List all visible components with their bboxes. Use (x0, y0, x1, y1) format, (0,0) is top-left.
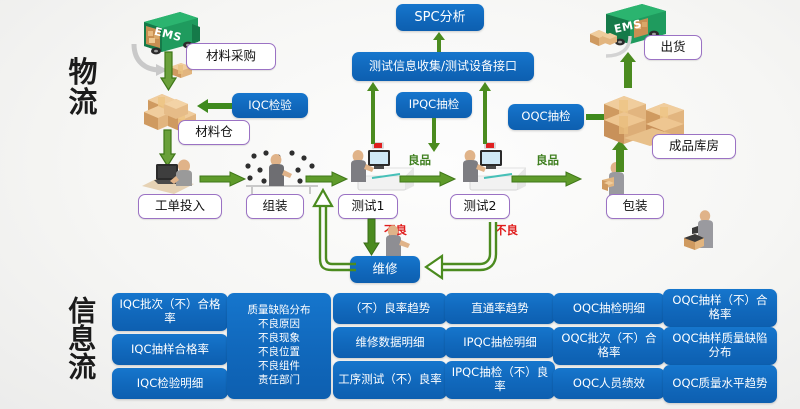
arrow-iqc-to-material (196, 98, 232, 114)
info-box-oqc-sample-defect-distribution[interactable]: OQC抽样质量缺陷分布 (663, 327, 777, 365)
info-box-iqc-sampling-pass-rate-text: IQC抽样合格率 (131, 343, 209, 357)
info-box-oqc-lot-pass-rate[interactable]: OQC批次（不）合格率 (553, 327, 665, 365)
test2-text: 测试2 (464, 199, 497, 213)
arrow-test1-to-testinfo (366, 82, 380, 144)
info-box-oqc-sample-pass-rate[interactable]: OQC抽样（不）合格率 (663, 289, 777, 327)
button-spc-analysis[interactable]: SPC分析 (396, 4, 484, 31)
label-work-order-input[interactable]: 工单投入 (138, 194, 222, 219)
label-material-purchase[interactable]: 材料采购 (186, 43, 276, 70)
button-test-info-collection[interactable]: 测试信息收集/测试设备接口 (352, 52, 534, 81)
button-oqc-sampling[interactable]: OQC抽检 (508, 104, 584, 130)
material-purchase-text: 材料采购 (206, 49, 256, 63)
info-box-defect-rate-trend-text: （不）良率趋势 (350, 302, 431, 316)
parcel-icon-outbound (588, 26, 618, 48)
warehouse-worker-icon (682, 208, 718, 250)
work-order-text: 工单投入 (155, 199, 205, 213)
info-box-ipqc-sampling-detail[interactable]: IPQC抽检明细 (445, 327, 555, 358)
info-box-iqc-lot-pass-rate[interactable]: IQC批次（不）合格率 (112, 293, 228, 331)
arrow-purchase-to-warehouse (161, 52, 177, 92)
diagram-canvas: 物流 信息流 EMS (0, 0, 800, 409)
label-shipment[interactable]: 出货 (644, 35, 702, 60)
button-repair[interactable]: 维修 (350, 256, 420, 283)
shipment-text: 出货 (660, 40, 685, 54)
section-title-information-flow: 信息流 (52, 296, 108, 380)
info-box-ipqc-sampling-defect-rate-text: IPQC抽检（不）良率 (449, 366, 551, 393)
info-box-ipqc-sampling-detail-text: IPQC抽检明细 (463, 336, 536, 350)
info-box-process-test-yield[interactable]: 工序测试（不）良率 (333, 361, 447, 399)
info-box-oqc-sampling-detail[interactable]: OQC抽检明细 (553, 293, 665, 324)
arrow-test1-to-repair (364, 219, 380, 257)
arrow-test2-to-testinfo (478, 82, 492, 144)
info-box-defect-rate-trend[interactable]: （不）良率趋势 (333, 293, 447, 324)
label-good-product-2: 良品 (536, 152, 559, 168)
info-box-first-pass-yield-trend-text: 直通率趋势 (471, 302, 529, 316)
label-finished-goods-warehouse[interactable]: 成品库房 (652, 134, 736, 159)
info-box-iqc-sampling-pass-rate[interactable]: IQC抽样合格率 (112, 334, 228, 365)
arrow-test2-to-repair (420, 222, 506, 278)
section-title-logistics: 物流 (55, 58, 111, 117)
iqc-inspection-text: IQC检验 (248, 99, 291, 113)
repair-technician-icon (380, 224, 412, 260)
label-test-2[interactable]: 测试2 (450, 194, 510, 219)
info-box-oqc-sample-defect-distribution-text: OQC抽样质量缺陷分布 (667, 332, 773, 359)
info-box-iqc-lot-pass-rate-text: IQC批次（不）合格率 (116, 298, 224, 325)
repair-text: 维修 (372, 262, 397, 277)
workorder-operator-icon (138, 150, 200, 194)
assembly-text: 组装 (262, 199, 287, 213)
info-box-process-test-yield-text: 工序测试（不）良率 (338, 373, 442, 387)
arrow-test2-to-packing (512, 171, 582, 187)
arrow-repair-to-rework (310, 188, 358, 274)
spc-text: SPC分析 (414, 10, 465, 25)
info-box-iqc-inspection-detail-text: IQC检验明细 (137, 377, 203, 391)
button-iqc-inspection[interactable]: IQC检验 (232, 93, 308, 118)
info-box-oqc-sampling-detail-text: OQC抽检明细 (573, 302, 645, 316)
button-ipqc-sampling[interactable]: IPQC抽检 (396, 92, 472, 118)
ipqc-text: IPQC抽检 (409, 98, 459, 112)
label-material-warehouse[interactable]: 材料仓 (178, 120, 250, 145)
info-box-oqc-staff-performance[interactable]: OQC人员绩效 (553, 368, 665, 399)
info-box-oqc-staff-performance-text: OQC人员绩效 (573, 377, 645, 391)
test-info-text: 测试信息收集/测试设备接口 (369, 59, 517, 73)
info-box-quality-defect-distribution[interactable]: 质量缺陷分布 不良原因 不良现象 不良位置 不良组件 责任部门 (227, 293, 331, 399)
info-title-text: 信息流 (66, 296, 95, 380)
fg-warehouse-text: 成品库房 (669, 139, 719, 153)
information-flow-grid: IQC批次（不）合格率 IQC抽样合格率 IQC检验明细 质量缺陷分布 不良原因… (112, 289, 772, 407)
info-box-iqc-inspection-detail[interactable]: IQC检验明细 (112, 368, 228, 399)
label-assembly[interactable]: 组装 (246, 194, 304, 219)
arrow-testinfo-to-spc (432, 32, 446, 54)
info-box-quality-defect-distribution-text: 质量缺陷分布 不良原因 不良现象 不良位置 不良组件 责任部门 (248, 304, 311, 387)
info-box-repair-data-detail-text: 维修数据明细 (356, 336, 425, 350)
label-packing[interactable]: 包装 (606, 194, 664, 219)
info-box-oqc-quality-level-trend-text: OQC质量水平趋势 (672, 377, 767, 391)
info-box-oqc-lot-pass-rate-text: OQC批次（不）合格率 (557, 332, 661, 359)
logistics-title-text: 物流 (55, 58, 111, 117)
info-box-first-pass-yield-trend[interactable]: 直通率趋势 (445, 293, 555, 324)
material-warehouse-text: 材料仓 (195, 125, 233, 139)
info-box-ipqc-sampling-defect-rate[interactable]: IPQC抽检（不）良率 (445, 361, 555, 399)
info-box-oqc-sample-pass-rate-text: OQC抽样（不）合格率 (667, 294, 773, 321)
arrow-ipqc-down (427, 118, 441, 152)
packing-text: 包装 (622, 199, 647, 213)
info-box-repair-data-detail[interactable]: 维修数据明细 (333, 327, 447, 358)
label-good-product-1: 良品 (408, 152, 431, 168)
oqc-text: OQC抽检 (521, 110, 570, 124)
info-box-oqc-quality-level-trend[interactable]: OQC质量水平趋势 (663, 365, 777, 403)
